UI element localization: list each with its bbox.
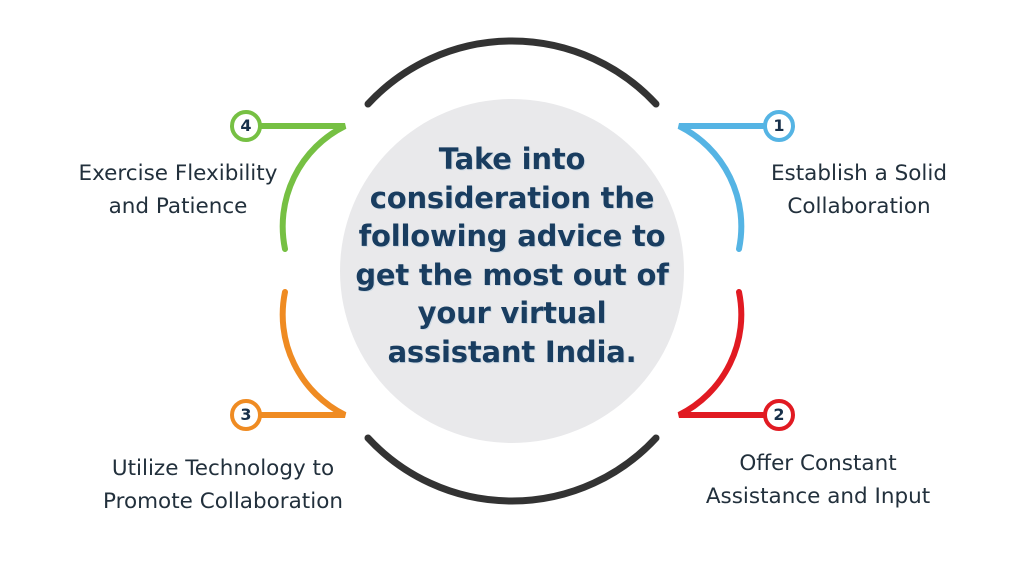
step-badge-2-number: 2: [773, 407, 784, 423]
step-badge-3-number: 3: [240, 407, 251, 423]
step-label-4: Exercise Flexibility and Patience: [38, 157, 318, 224]
step-badge-4[interactable]: 4: [230, 110, 262, 142]
step-badge-1[interactable]: 1: [763, 110, 795, 142]
step-badge-1-number: 1: [773, 118, 784, 134]
step-label-1: Establish a Solid Collaboration: [728, 157, 990, 224]
connector-2: [679, 292, 763, 415]
connector-3: [261, 292, 345, 415]
top-arc-icon: [368, 41, 656, 104]
step-badge-3[interactable]: 3: [230, 399, 262, 431]
infographic-canvas: Take into consideration the following ad…: [0, 0, 1024, 576]
step-badge-4-number: 4: [240, 118, 251, 134]
step-badge-2[interactable]: 2: [763, 399, 795, 431]
step-label-2: Offer Constant Assistance and Input: [668, 447, 968, 514]
hub-text: Take into consideration the following ad…: [352, 140, 672, 371]
bottom-arc-icon: [368, 438, 656, 501]
step-label-3: Utilize Technology to Promote Collaborat…: [58, 452, 388, 519]
